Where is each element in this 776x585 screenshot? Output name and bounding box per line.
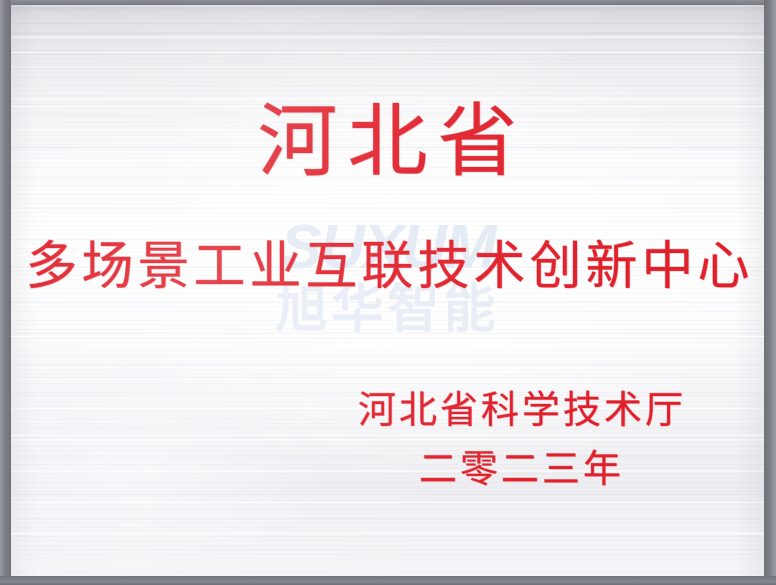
plaque-year: 二零二三年	[11, 448, 624, 492]
scratch-line	[11, 435, 764, 436]
scratch-line	[11, 533, 764, 534]
plaque-subtitle: 多场景工业互联技术创新中心	[11, 237, 764, 299]
scratch-line	[11, 494, 764, 495]
scratch-line	[11, 210, 764, 211]
scratch-line	[11, 336, 764, 337]
scratch-line	[11, 33, 764, 34]
frame-edge-bottom	[0, 576, 776, 585]
award-plaque: SUXUM 旭华智能 河北省 多场景工业互联技术创新中心 河北省科学技术厅 二零…	[0, 0, 776, 585]
scratch-line	[11, 52, 764, 53]
plaque-issuer: 河北省科学技术厅	[11, 389, 686, 433]
plaque-face: SUXUM 旭华智能 河北省 多场景工业互联技术创新中心 河北省科学技术厅 二零…	[11, 5, 764, 576]
frame-edge-left	[0, 0, 11, 585]
scratch-line	[11, 68, 764, 69]
scratch-line	[11, 377, 764, 378]
frame-edge-right	[764, 0, 776, 585]
plaque-title: 河北省	[11, 97, 764, 189]
